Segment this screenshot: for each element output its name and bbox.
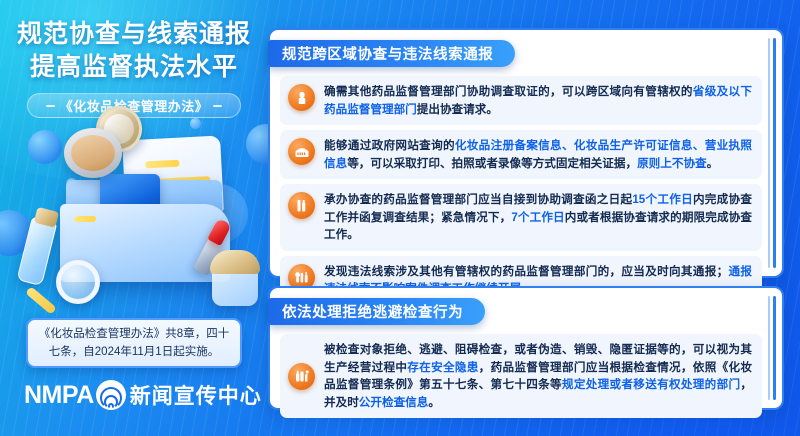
subtitle-dash-right [213,105,222,107]
cream-jar-icon [212,264,258,306]
mascara-icon [288,192,315,219]
panel-cross-region-assistance: 规范跨区域协查与违法线索通报 确需其他药品监督管理部门协助调查取证的，可以跨区域… [268,28,784,278]
signal-arc-icon [96,380,126,410]
lipstick-tube-icon [288,84,315,111]
provision-row: 承办协查的药品监督管理部门应当自接到协助调查函之日起15个工作日内完成协查工作并… [280,184,762,251]
cosmetics-illustration [0,112,268,310]
panel-1-badge-label: 规范跨区域协查与违法线索通报 [282,43,493,64]
cosmetics-bottles-icon [288,363,315,390]
panel-accent-bar-secondary [768,296,770,400]
provision-text: 被检查对象拒绝、逃避、阻碍检查，或者伪造、销毁、隐匿证据等的，可以视为其生产经营… [324,341,752,411]
document-line [145,160,179,169]
bubble-icon [190,118,201,129]
regulation-note-box: 《化妆品检查管理办法》共8章，四十七条，自2024年11月1日起实施。 [26,318,242,368]
magnifier-icon [56,260,100,304]
provision-row: 能够通过政府网站查询的化妆品注册备案信息、化妆品生产许可证信息、营业执照信息等，… [280,130,762,179]
panel-accent-bar [773,296,776,400]
panel-accent-bar-secondary [768,38,770,268]
provision-row: 确需其他药品监督管理部门协助调查取证的，可以跨区域向有管辖权的省级及以下药品监督… [280,76,762,125]
panel-2-rows: 被检查对象拒绝、逃避、阻碍检查，或者伪造、销毁、隐匿证据等的，可以视为其生产经营… [280,334,762,418]
hero-title-line-1: 规范协查与线索通报 [0,18,268,51]
nmpa-wordmark: NMPA [24,381,94,410]
compact-powder-icon [288,138,315,165]
panel-2-badge-label: 依法处理拒绝逃避检查行为 [282,301,463,322]
hero-title-line-2: 提高监督执法水平 [0,51,268,84]
panel-1-rows: 确需其他药品监督管理部门协助调查取证的，可以跨区域向有管辖权的省级及以下药品监督… [280,76,762,310]
folder-label [74,216,96,222]
panel-1-badge: 规范跨区域协查与违法线索通报 [268,40,515,67]
provision-row: 被检查对象拒绝、逃避、阻碍检查，或者伪造、销毁、隐匿证据等的，可以视为其生产经营… [280,334,762,418]
compact-powder-base-icon [64,128,122,178]
subtitle-dash-left [46,105,55,107]
hero-title-block: 规范协查与线索通报 提高监督执法水平 《化妆品检查管理办法》 [0,18,268,118]
bottle-cap [34,207,59,228]
provision-text: 承办协查的药品监督管理部门应当自接到协助调查函之日起15个工作日内完成协查工作并… [324,191,752,244]
provision-text: 确需其他药品监督管理部门协助调查取证的，可以跨区域向有管辖权的省级及以下药品监督… [324,83,752,118]
regulation-note-text: 《化妆品检查管理办法》共8章，四十七条，自2024年11月1日起实施。 [38,325,230,361]
provision-text: 能够通过政府网站查询的化妆品注册备案信息、化妆品生产许可证信息、营业执照信息等，… [324,137,752,172]
left-column: 规范协查与线索通报 提高监督执法水平 《化妆品检查管理办法》 [0,0,268,436]
nmpa-center-name: 新闻宣传中心 [130,380,262,410]
cream-jar-lid [210,250,260,274]
nmpa-logo: NMPA 新闻宣传中心 [24,380,262,410]
bubble-icon [28,130,62,164]
panel-accent-bar [773,38,776,268]
magnifier-handle [25,286,57,315]
infographic-poster: 规范协查与线索通报 提高监督执法水平 《化妆品检查管理办法》 [0,0,800,436]
panel-2-badge: 依法处理拒绝逃避检查行为 [268,298,485,325]
panel-refusal-handling: 依法处理拒绝逃避检查行为 被检查对象拒绝、逃避、阻碍检查，或者伪造、销毁、隐匿证… [268,286,784,410]
